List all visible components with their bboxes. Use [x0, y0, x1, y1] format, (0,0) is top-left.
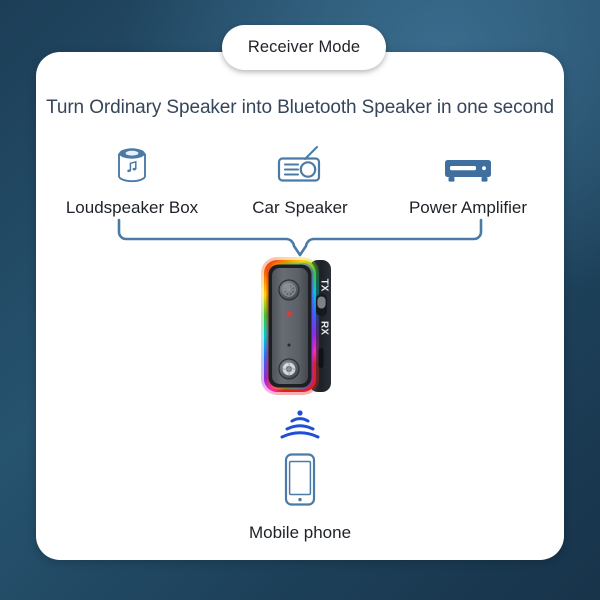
phone-label: Mobile phone	[249, 523, 351, 543]
source-device-row: Loudspeaker Box Car Speaker	[48, 140, 552, 218]
mode-badge: Receiver Mode	[222, 25, 386, 70]
switch-label-tx: TX	[319, 279, 330, 292]
phone-block: Mobile phone	[0, 452, 600, 543]
promo-graphic-root: Receiver Mode Turn Ordinary Speaker into…	[0, 0, 600, 600]
source-item-loudspeaker-box: Loudspeaker Box	[48, 143, 216, 218]
source-item-label: Car Speaker	[252, 198, 347, 218]
mobile-phone-icon	[279, 452, 321, 515]
loudspeaker-box-icon	[109, 143, 155, 189]
bluetooth-receiver-adapter: TX RX	[255, 252, 345, 400]
switch-label-rx: RX	[319, 321, 330, 335]
power-amplifier-icon	[439, 143, 497, 189]
source-item-power-amplifier: Power Amplifier	[384, 143, 552, 218]
source-item-label: Loudspeaker Box	[66, 198, 198, 218]
source-item-label: Power Amplifier	[409, 198, 527, 218]
bluetooth-signal-waves-icon	[272, 408, 328, 446]
page-title: Turn Ordinary Speaker into Bluetooth Spe…	[0, 97, 600, 119]
car-radio-speaker-icon	[272, 143, 328, 189]
mode-badge-label: Receiver Mode	[248, 38, 360, 57]
source-item-car-speaker: Car Speaker	[216, 143, 384, 218]
